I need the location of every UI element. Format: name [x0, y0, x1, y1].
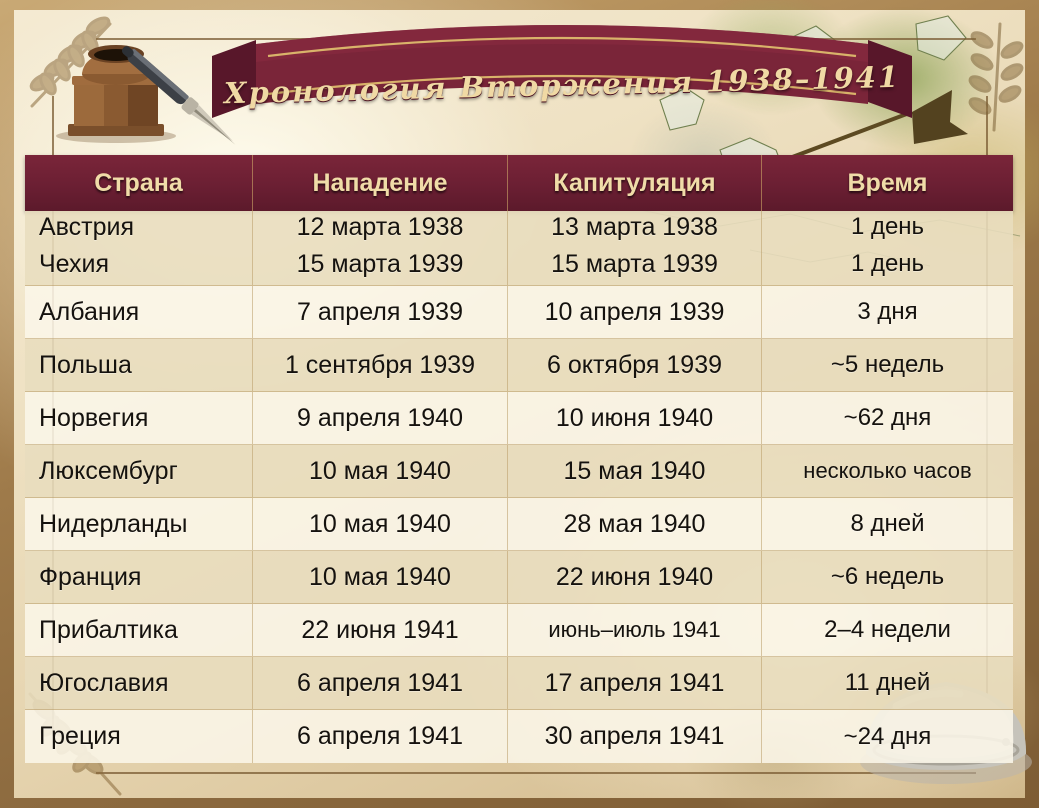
cell-attack: 6 апреля 1941 [253, 657, 508, 709]
cell-capitulation: июнь–июль 1941 [508, 604, 762, 656]
table-row: Прибалтика 22 июня 1941 июнь–июль 1941 2… [25, 604, 1013, 657]
cell-country: Албания [25, 286, 253, 338]
cell-duration: несколько часов [762, 445, 1013, 497]
cell-duration: 8 дней [762, 498, 1013, 550]
cell-attack: 9 апреля 1940 [253, 392, 508, 444]
cell-capitulation: 15 марта 1939 [508, 243, 762, 285]
cell-country: Нидерланды [25, 498, 253, 550]
table-row: Югославия 6 апреля 1941 17 апреля 1941 1… [25, 657, 1013, 710]
cell-attack: 1 сентября 1939 [253, 339, 508, 391]
column-header-country: Страна [25, 155, 253, 211]
cell-country: Австрия [25, 211, 253, 243]
table-row: Австрия 12 марта 1938 13 марта 1938 1 де… [25, 211, 1013, 243]
cell-country: Чехия [25, 243, 253, 285]
cell-attack: 7 апреля 1939 [253, 286, 508, 338]
cell-country: Польша [25, 339, 253, 391]
table-row: Франция 10 мая 1940 22 июня 1940 ~6 неде… [25, 551, 1013, 604]
cell-capitulation: 22 июня 1940 [508, 551, 762, 603]
cell-capitulation: 15 мая 1940 [508, 445, 762, 497]
cell-attack: 22 июня 1941 [253, 604, 508, 656]
table-header-row: Страна Нападение Капитуляция Время [25, 155, 1013, 211]
cell-attack: 6 апреля 1941 [253, 710, 508, 763]
table-row: Чехия 15 марта 1939 15 марта 1939 1 день [25, 243, 1013, 285]
cell-duration: 1 день [762, 243, 1013, 285]
cell-capitulation: 6 октября 1939 [508, 339, 762, 391]
cell-capitulation: 17 апреля 1941 [508, 657, 762, 709]
cell-duration: 2–4 недели [762, 604, 1013, 656]
table-row: Норвегия 9 апреля 1940 10 июня 1940 ~62 … [25, 392, 1013, 445]
cell-country: Греция [25, 710, 253, 763]
cell-duration: ~62 дня [762, 392, 1013, 444]
cell-duration: ~24 дня [762, 710, 1013, 763]
cell-duration: 3 дня [762, 286, 1013, 338]
table-row: Люксембург 10 мая 1940 15 мая 1940 неско… [25, 445, 1013, 498]
cell-capitulation: 28 мая 1940 [508, 498, 762, 550]
cell-capitulation: 30 апреля 1941 [508, 710, 762, 763]
column-header-time: Время [762, 155, 1013, 211]
cell-country: Франция [25, 551, 253, 603]
cell-duration: ~5 недель [762, 339, 1013, 391]
table-row: Нидерланды 10 мая 1940 28 мая 1940 8 дне… [25, 498, 1013, 551]
cell-capitulation: 10 июня 1940 [508, 392, 762, 444]
cell-country: Люксембург [25, 445, 253, 497]
laurel-branch-ornament-topright [960, 18, 1030, 138]
frame-rule-bottom [96, 772, 976, 774]
cell-country: Югославия [25, 657, 253, 709]
cell-attack: 10 мая 1940 [253, 551, 508, 603]
cell-capitulation: 10 апреля 1939 [508, 286, 762, 338]
cell-attack: 10 мая 1940 [253, 498, 508, 550]
table-row: Греция 6 апреля 1941 30 апреля 1941 ~24 … [25, 710, 1013, 763]
table-row: Албания 7 апреля 1939 10 апреля 1939 3 д… [25, 286, 1013, 339]
column-header-attack: Нападение [253, 155, 508, 211]
cell-attack: 15 марта 1939 [253, 243, 508, 285]
cell-attack: 10 мая 1940 [253, 445, 508, 497]
column-header-capitulation: Капитуляция [508, 155, 762, 211]
cell-duration: ~6 недель [762, 551, 1013, 603]
cell-duration: 11 дней [762, 657, 1013, 709]
cell-country: Прибалтика [25, 604, 253, 656]
chronology-table: Страна Нападение Капитуляция Время Австр… [25, 155, 1013, 763]
table-row-group-top: Австрия 12 марта 1938 13 марта 1938 1 де… [25, 211, 1013, 286]
cell-duration: 1 день [762, 211, 1013, 243]
poster: Хронология Вторжения 1938–1941 Страна На… [0, 0, 1039, 808]
title-ribbon [212, 22, 912, 147]
cell-country: Норвегия [25, 392, 253, 444]
table-row: Польша 1 сентября 1939 6 октября 1939 ~5… [25, 339, 1013, 392]
cell-attack: 12 марта 1938 [253, 211, 508, 243]
cell-capitulation: 13 марта 1938 [508, 211, 762, 243]
